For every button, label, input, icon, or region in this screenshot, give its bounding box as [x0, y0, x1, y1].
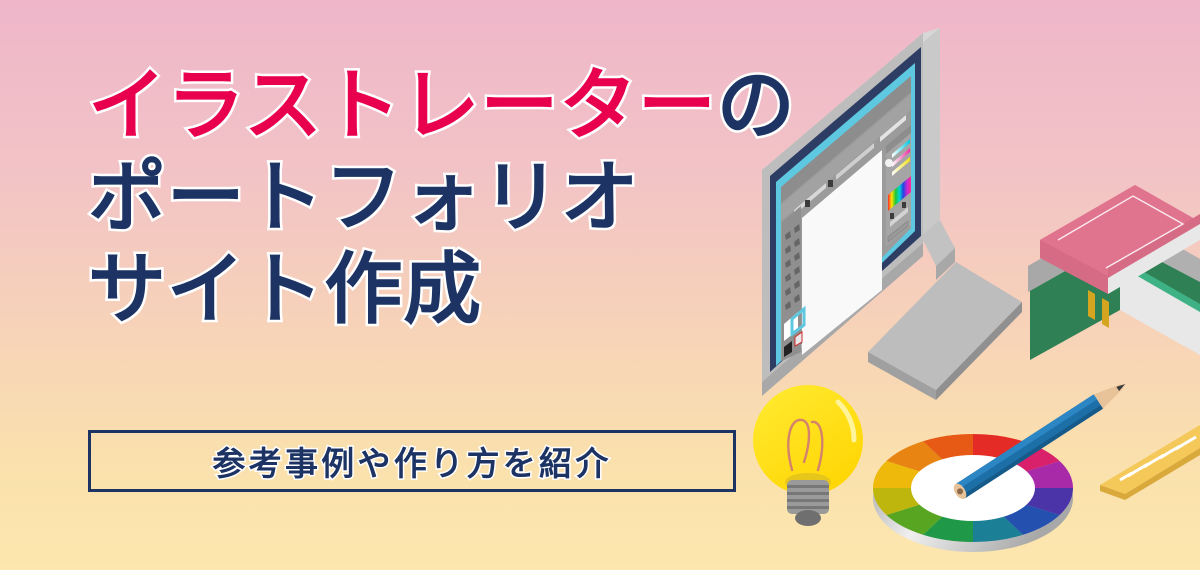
yellow-ruler	[1100, 425, 1200, 500]
bookmark-1	[1088, 290, 1095, 320]
subtitle-text: 参考事例や作り方を紹介	[212, 437, 611, 485]
color-preview-swatch	[885, 159, 893, 167]
headline-line-2: ポートフォリオ	[88, 158, 768, 236]
headline-line-1: イラストレーターの	[88, 66, 768, 144]
monitor-illustration	[762, 28, 1022, 400]
light-bulb	[753, 385, 863, 526]
illustration-designer-desk	[740, 0, 1200, 570]
bookmark-2	[1102, 298, 1109, 328]
book-stack	[1028, 185, 1200, 360]
headline-line-3: サイト作成	[88, 250, 768, 328]
monitor-shell	[923, 28, 940, 243]
bulb-screw-base	[787, 480, 829, 526]
subtitle-box: 参考事例や作り方を紹介	[88, 430, 736, 492]
headline-block: イラストレーターの ポートフォリオ サイト作成	[88, 66, 768, 342]
banner-root: イラストレーターの ポートフォリオ サイト作成 参考事例や作り方を紹介	[0, 0, 1200, 570]
headline-line-1-red: イラストレーター	[88, 61, 717, 149]
